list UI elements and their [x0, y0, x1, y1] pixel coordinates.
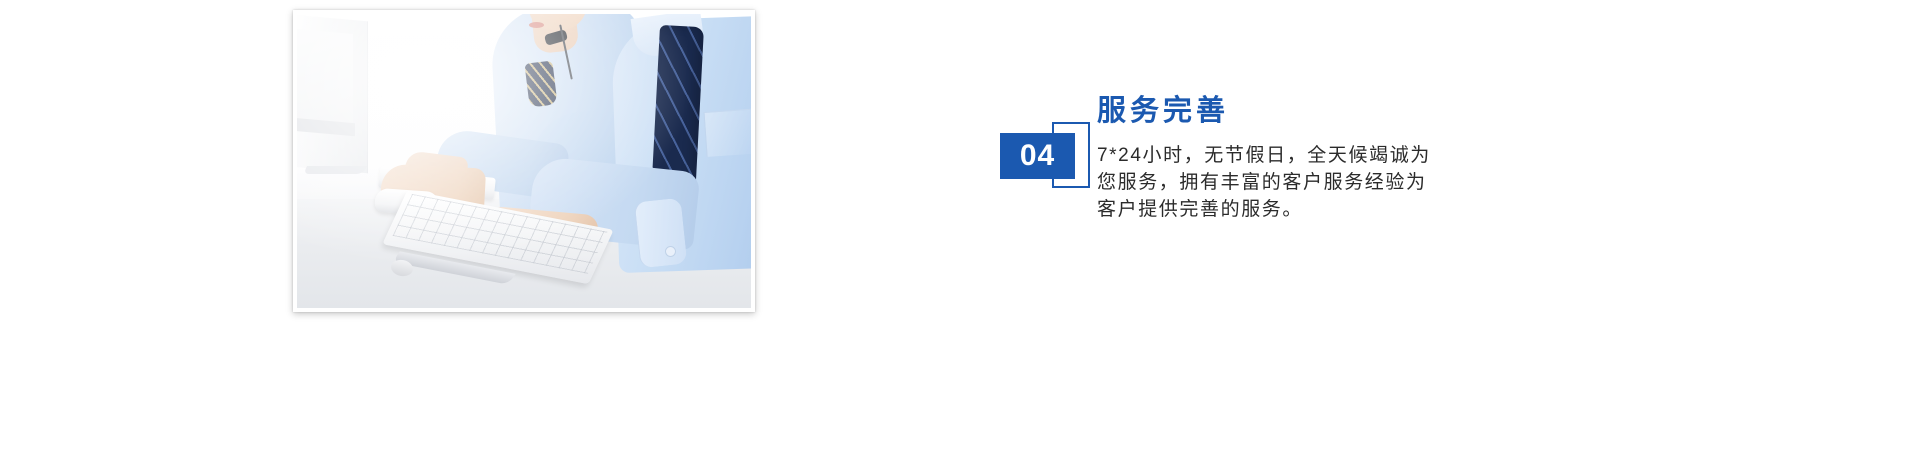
monitor-screen: [297, 29, 353, 126]
step-number-badge: 04: [1000, 95, 1095, 190]
feature-description-line-1: 7*24小时，无节假日，全天候竭诚为: [1097, 142, 1517, 169]
person-front-shirt-pocket: [703, 108, 751, 157]
badge-number-label: 04: [1000, 133, 1075, 179]
monitor-icon: [297, 15, 368, 174]
photo-frame: [293, 10, 755, 312]
person-front-cuff: [634, 198, 688, 269]
person-back-tie: [524, 60, 557, 107]
feature-description-line-3: 客户提供完善的服务。: [1097, 196, 1517, 223]
feature-text-column: 服务完善 7*24小时，无节假日，全天候竭诚为 您服务，拥有丰富的客户服务经验为…: [1097, 95, 1517, 223]
feature-description-line-2: 您服务，拥有丰富的客户服务经验为: [1097, 169, 1517, 196]
feature-section-page: 04 服务完善 7*24小时，无节假日，全天候竭诚为 您服务，拥有丰富的客户服务…: [0, 0, 1920, 452]
customer-service-photo: [297, 14, 751, 308]
cuff-button: [665, 246, 676, 257]
monitor-stand: [303, 166, 367, 174]
feature-title: 服务完善: [1097, 95, 1517, 128]
person-back-lips: [529, 22, 544, 28]
